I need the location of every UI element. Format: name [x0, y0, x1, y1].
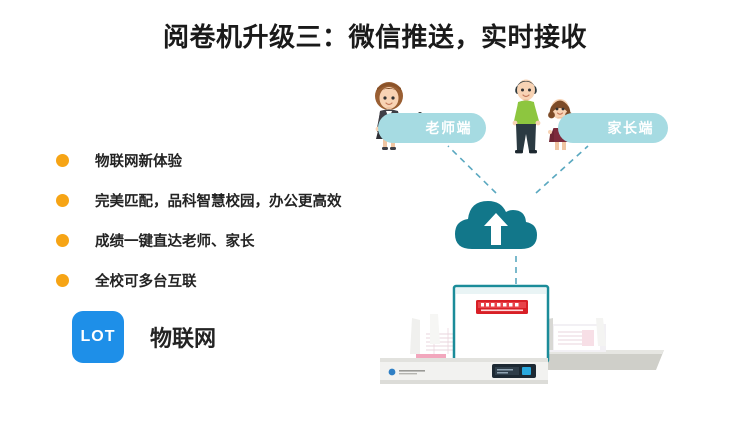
slide-canvas: 阅卷机升级三：微信推送，实时接收 物联网新体验 完美匹配，品科智慧校园，办公更高…: [0, 0, 750, 433]
cloud-upload-icon: [450, 193, 542, 255]
list-item-label: 完美匹配，品科智慧校园，办公更高效: [95, 190, 342, 211]
bullet-dot-icon: [56, 274, 69, 287]
teacher-endpoint-pill[interactable]: 老师端: [378, 113, 486, 143]
iot-label: 物联网: [150, 321, 216, 353]
parent-endpoint-pill[interactable]: 家长端: [558, 113, 668, 143]
list-item: 全校可多台互联: [56, 260, 386, 300]
bullet-dot-icon: [56, 194, 69, 207]
iot-badge-block: LOT 物联网: [72, 311, 216, 363]
list-item: 完美匹配，品科智慧校园，办公更高效: [56, 180, 386, 220]
push-flow-diagram: 老师端: [340, 60, 740, 420]
list-item: 物联网新体验: [56, 140, 386, 180]
bullet-dot-icon: [56, 154, 69, 167]
list-item-label: 成绩一键直达老师、家长: [95, 230, 255, 251]
page-title: 阅卷机升级三：微信推送，实时接收: [0, 17, 750, 54]
list-item: 成绩一键直达老师、家长: [56, 220, 386, 260]
teacher-endpoint-label: 老师端: [426, 118, 473, 138]
iot-badge-label: LOT: [81, 328, 116, 346]
feature-bullet-list: 物联网新体验 完美匹配，品科智慧校园，办公更高效 成绩一键直达老师、家长 全校可…: [56, 140, 386, 300]
list-item-label: 全校可多台互联: [95, 270, 197, 291]
list-item-label: 物联网新体验: [95, 150, 182, 171]
parent-endpoint-label: 家长端: [608, 118, 655, 138]
omr-scanner-machine-icon: [368, 278, 668, 396]
bullet-dot-icon: [56, 234, 69, 247]
iot-badge-icon: LOT: [72, 311, 124, 363]
